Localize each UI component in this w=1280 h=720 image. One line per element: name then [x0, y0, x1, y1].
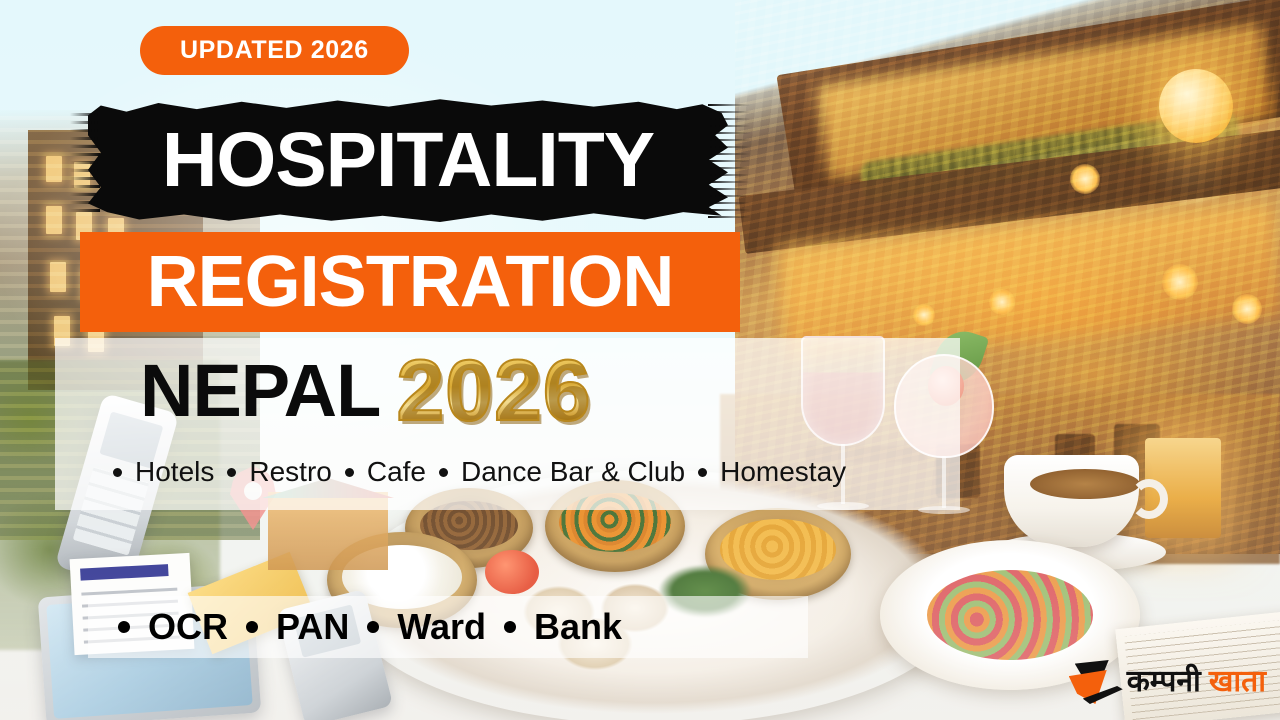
registration-orange-banner: REGISTRATION — [80, 232, 740, 332]
list-item: PAN — [228, 609, 349, 645]
headline-line-1: HOSPITALITY — [88, 98, 728, 222]
bullet-dot-icon — [118, 621, 130, 633]
category-label: Hotels — [135, 458, 214, 486]
poster-canvas: UPDATED 2026 HOSPITALITY REGISTRATION NE… — [0, 0, 1280, 720]
requirement-label: Ward — [397, 609, 486, 645]
bullet-dot-icon — [345, 468, 354, 477]
kampani-khata-logo-icon — [1067, 658, 1119, 706]
category-list: Hotels Restro Cafe Dance Bar & Club Home… — [100, 458, 980, 486]
requirement-label: OCR — [148, 609, 228, 645]
updated-badge: UPDATED 2026 — [140, 26, 409, 75]
brand-logo[interactable]: कम्पनी खाता — [1067, 658, 1266, 706]
requirement-label: PAN — [276, 609, 349, 645]
list-item: Homestay — [685, 458, 846, 486]
list-item: Hotels — [100, 458, 214, 486]
headline-line-2: REGISTRATION — [147, 246, 674, 318]
requirements-list: OCR PAN Ward Bank — [100, 600, 800, 654]
poster-content: UPDATED 2026 HOSPITALITY REGISTRATION NE… — [0, 0, 1280, 720]
list-item: Dance Bar & Club — [426, 458, 685, 486]
hospitality-brush-banner: HOSPITALITY — [88, 98, 728, 222]
country-year-row: NEPAL 2026 — [140, 348, 596, 434]
updated-badge-label: UPDATED 2026 — [180, 36, 369, 64]
category-label: Restro — [249, 458, 331, 486]
requirement-label: Bank — [534, 609, 622, 645]
brand-word-1: कम्पनी — [1127, 667, 1201, 697]
bullet-dot-icon — [113, 468, 122, 477]
brand-word-2: खाता — [1209, 667, 1266, 697]
headline-country: NEPAL — [140, 354, 380, 428]
bullet-dot-icon — [504, 621, 516, 633]
list-item: Ward — [349, 609, 486, 645]
list-item: OCR — [100, 609, 228, 645]
headline-year: 2026 — [396, 348, 595, 434]
bullet-dot-icon — [439, 468, 448, 477]
category-label: Homestay — [720, 458, 846, 486]
category-label: Dance Bar & Club — [461, 458, 685, 486]
list-item: Bank — [486, 609, 622, 645]
bullet-dot-icon — [367, 621, 379, 633]
bullet-dot-icon — [227, 468, 236, 477]
list-item: Cafe — [332, 458, 426, 486]
bullet-dot-icon — [698, 468, 707, 477]
bullet-dot-icon — [246, 621, 258, 633]
list-item: Restro — [214, 458, 331, 486]
brand-wordmark: कम्पनी खाता — [1127, 667, 1266, 697]
category-label: Cafe — [367, 458, 426, 486]
